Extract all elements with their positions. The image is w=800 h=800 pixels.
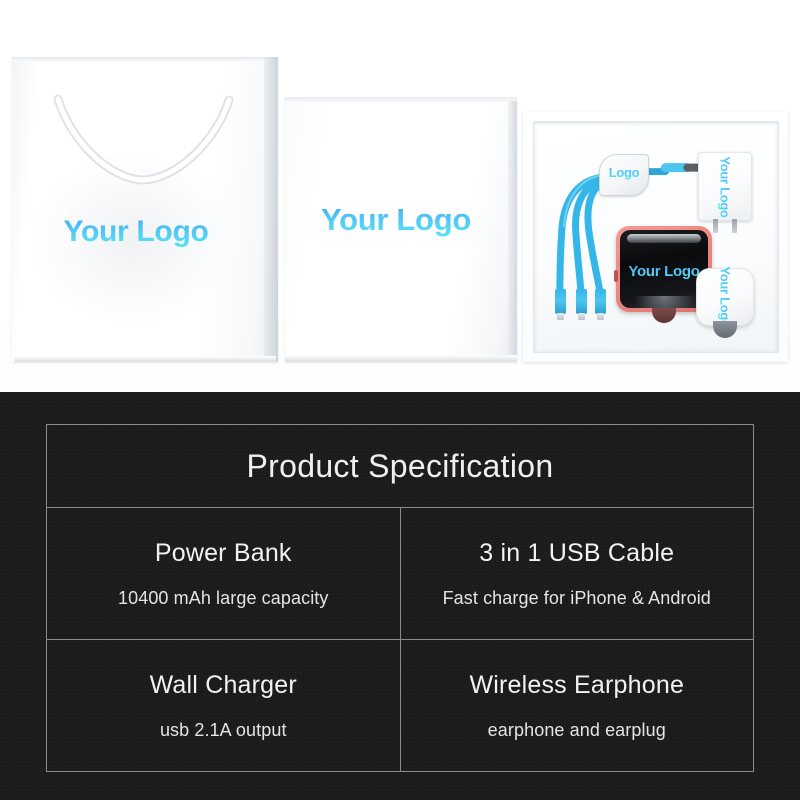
power-bank-screen: Your Logo xyxy=(620,230,708,308)
table-row: Wall Charger usb 2.1A output Wireless Ea… xyxy=(47,640,753,771)
spec-title: Power Bank xyxy=(155,539,292,568)
gift-bag: Your Logo xyxy=(12,57,278,362)
product-box: Your Logo xyxy=(285,97,517,362)
spec-cell-wall-charger: Wall Charger usb 2.1A output xyxy=(47,640,401,771)
power-bank-gloss xyxy=(627,234,701,243)
spec-cell-power-bank: Power Bank 10400 mAh large capacity xyxy=(47,508,401,639)
product-listing-image: Your Logo Your Logo xyxy=(0,0,800,800)
lightning-connector xyxy=(555,289,566,314)
product-photo: Your Logo Your Logo xyxy=(0,0,800,392)
cable-reel: Logo xyxy=(599,154,649,196)
spec-subtitle: 10400 mAh large capacity xyxy=(118,588,329,609)
gift-box-tray: Logo Your Logo xyxy=(533,121,779,353)
table-row: Power Bank 10400 mAh large capacity 3 in… xyxy=(47,508,753,640)
usb-c-connector xyxy=(576,289,587,314)
product-box-top-edge xyxy=(285,97,517,103)
charger-prong-right xyxy=(732,219,737,233)
spec-subtitle: earphone and earplug xyxy=(488,720,666,741)
spec-subtitle: usb 2.1A output xyxy=(160,720,287,741)
gift-bag-top-edge xyxy=(12,57,278,62)
wall-charger-logo-text: Your Logo xyxy=(718,156,733,217)
charger-prong-left xyxy=(713,219,718,233)
gift-bag-rope-handle xyxy=(54,95,234,187)
gift-bag-side-panel xyxy=(264,57,278,362)
earphone-case: Your Logo xyxy=(696,268,754,326)
gift-bag-bottom-edge xyxy=(14,356,276,362)
micro-usb-connector xyxy=(595,289,606,314)
product-box-side-panel xyxy=(508,101,517,362)
spec-cell-wireless-earphone: Wireless Earphone earphone and earplug xyxy=(401,640,754,771)
earphone-case-logo-text: Your Logo xyxy=(718,266,733,327)
cable-reel-logo-text: Logo xyxy=(600,165,648,180)
spec-cell-usb-cable: 3 in 1 USB Cable Fast charge for iPhone … xyxy=(401,508,754,639)
power-bank-logo-text: Your Logo xyxy=(620,263,708,280)
gift-box-set: Logo Your Logo xyxy=(523,112,788,362)
product-box-bottom-edge xyxy=(285,355,517,362)
gift-box-tray-inner: Logo Your Logo xyxy=(538,126,774,348)
gift-bag-logo-text: Your Logo xyxy=(12,215,260,249)
spec-subtitle: Fast charge for iPhone & Android xyxy=(443,588,711,609)
power-bank-reflection xyxy=(634,296,694,308)
specification-header: Product Specification xyxy=(47,425,753,508)
spec-title: 3 in 1 USB Cable xyxy=(479,539,674,568)
spec-title: Wall Charger xyxy=(150,671,297,700)
wall-charger: Your Logo xyxy=(698,152,752,221)
spec-title: Wireless Earphone xyxy=(469,671,684,700)
product-box-logo-text: Your Logo xyxy=(285,202,507,238)
page-title: Product Specification xyxy=(247,448,554,485)
specification-panel: Product Specification Power Bank 10400 m… xyxy=(0,392,800,800)
power-bank-button xyxy=(614,270,618,282)
specification-table: Product Specification Power Bank 10400 m… xyxy=(46,424,754,772)
